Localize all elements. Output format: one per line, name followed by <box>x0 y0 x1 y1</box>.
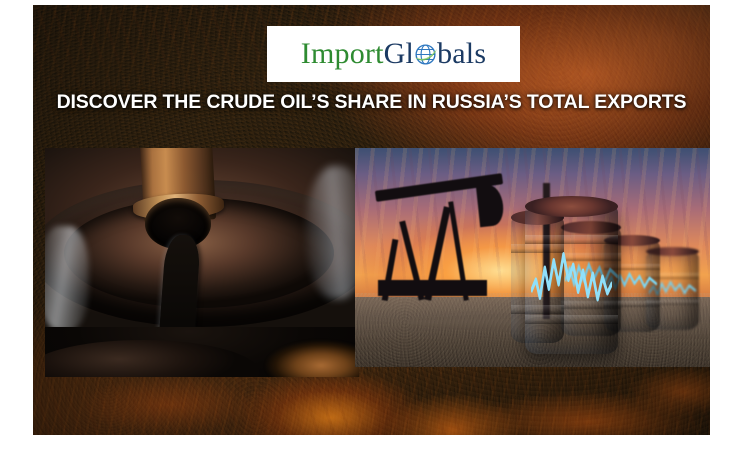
barrel-lid <box>525 196 617 217</box>
barrel-rib <box>525 315 617 324</box>
page-title: DISCOVER THE CRUDE OIL’S SHARE IN RUSSIA… <box>33 91 710 114</box>
logo-word-import: Import <box>301 37 384 70</box>
logo-word-globals-suffix: bals <box>437 37 486 70</box>
page-margin-top <box>0 0 750 5</box>
page-margin-left <box>0 0 33 450</box>
brand-logo[interactable]: ImportGl bals <box>267 26 520 82</box>
barrel-chart-graphic <box>531 247 612 310</box>
image-crude-oil-pouring <box>45 148 359 377</box>
barrel-rib <box>525 235 617 244</box>
promo-banner: ImportGl bals DISCOVER THE CRUDE OIL’S S… <box>33 5 710 435</box>
globe-icon <box>413 42 438 67</box>
oil-barrel-front <box>525 205 617 354</box>
logo-wordmark: ImportGl bals <box>301 39 486 69</box>
drum-highlight-right <box>306 166 359 299</box>
pump-jack-base <box>378 280 487 296</box>
page-margin-bottom <box>0 435 750 450</box>
pump-jack-horsehead <box>476 183 505 226</box>
image-pumpjack-and-barrels <box>355 148 710 367</box>
pump-jack <box>362 166 518 302</box>
page-margin-right <box>710 0 750 450</box>
rust-patch <box>259 340 359 377</box>
logo-word-globals-prefix: Gl <box>384 37 414 70</box>
drum-highlight-left <box>45 226 89 331</box>
